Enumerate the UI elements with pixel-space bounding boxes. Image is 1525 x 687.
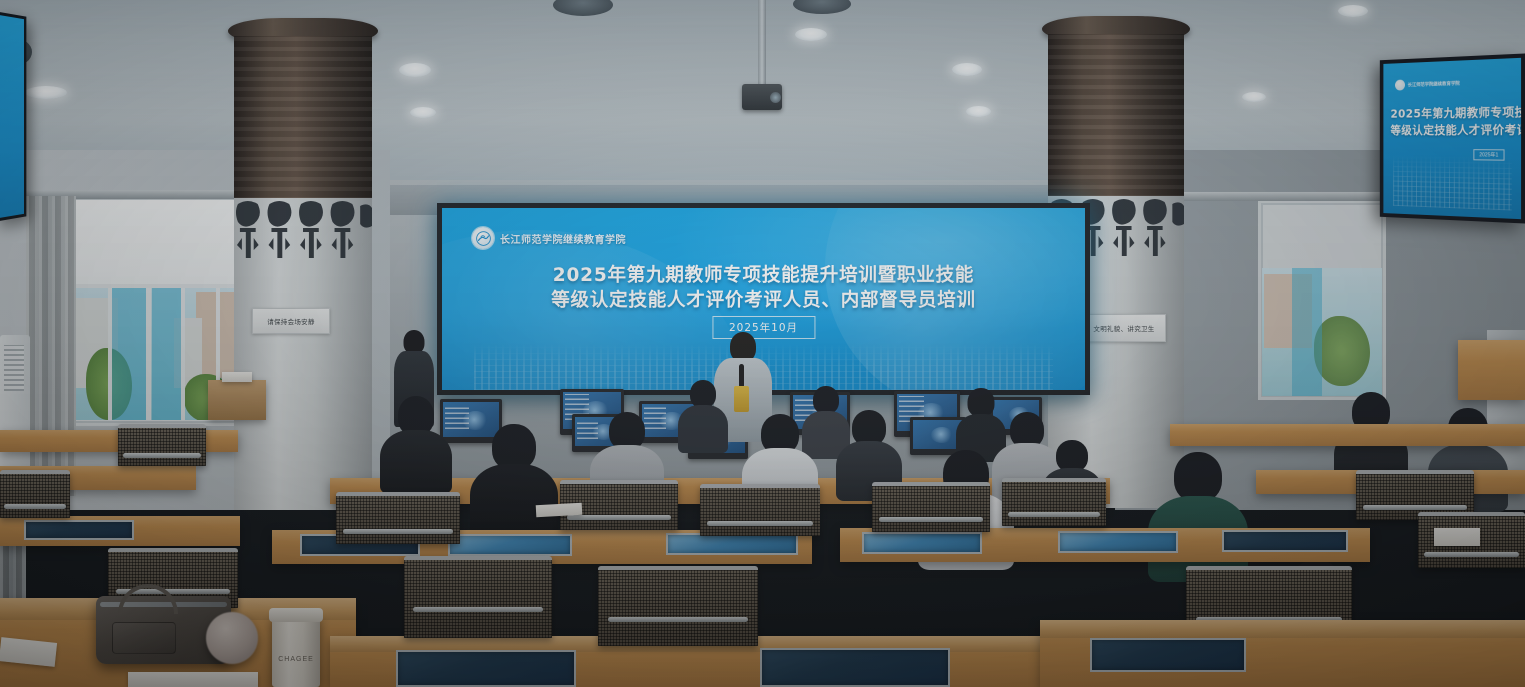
coffee-cup-lid <box>269 608 323 622</box>
led-logo-text: 长江师范学院继续教育学院 <box>500 231 626 246</box>
sign-civility-text: 文明礼貌、讲究卫生 <box>1093 323 1154 333</box>
pillar-left-bronze-band <box>234 36 372 201</box>
window-mullion-3 <box>181 288 185 420</box>
wall-tv-right: 长江师范学院继续教育学院 2025年第九期教师专项技 等级认定技能人才评价考评 … <box>1380 53 1525 223</box>
led-title-line2: 等级认定技能人才评价考评人员、内部督导员培训 <box>442 289 1085 314</box>
coffee-cup: CHAGEE <box>272 614 320 687</box>
chair-mid-5 <box>1002 478 1106 526</box>
audience-body <box>470 464 558 538</box>
chair-chrome-bar <box>879 517 983 522</box>
window-mullion-2 <box>146 288 151 420</box>
chair-chrome-bar <box>123 453 200 458</box>
podium-papers <box>222 372 252 382</box>
coffee-cup-brand-label: CHAGEE <box>272 656 320 663</box>
sign-civility: 文明礼貌、讲究卫生 <box>1082 314 1166 342</box>
chair-mid-3 <box>700 484 820 536</box>
wall-tv-right-logo: 长江师范学院继续教育学院 <box>1395 78 1460 91</box>
pillar-left-ethnic-motif-icon <box>234 198 372 272</box>
wall-tv-right-screen: 长江师范学院继续教育学院 2025年第九期教师专项技 等级认定技能人才评价考评 … <box>1383 58 1521 219</box>
wall-tv-right-logo-text: 长江师范学院继续教育学院 <box>1408 80 1460 88</box>
fur-pompom-keychain <box>206 612 258 664</box>
window-tinted-panel-1 <box>112 288 146 420</box>
ceiling-downlight-3 <box>952 63 982 76</box>
desk-monitor-glass-fc-1 <box>396 650 576 687</box>
sign-keep-quiet-text: 请保持会场安静 <box>267 316 315 326</box>
window-tinted-panel-2 <box>152 288 182 420</box>
desk-monitor-glass-mr-3 <box>1222 530 1348 552</box>
classroom-photo-scene: 请保持会场安静 文明礼貌、讲究卫生 长江师范学院继续教育学院 2025年第九期教… <box>0 0 1525 687</box>
wall-tv-left-screen <box>0 15 24 219</box>
desk-papers-front <box>128 672 258 687</box>
ceiling-downlight-4 <box>410 107 436 118</box>
institution-seal-icon <box>1395 80 1405 91</box>
ceiling-downlight-6 <box>25 86 67 99</box>
chair-mid-1 <box>336 492 460 544</box>
desk-monitor-glass-fc-2 <box>760 648 950 687</box>
projector-lens-icon <box>770 92 781 103</box>
wall-tv-left <box>0 11 26 222</box>
institution-seal-icon <box>472 227 494 249</box>
window-mullion-1 <box>108 288 112 420</box>
chair-front-2 <box>598 566 758 646</box>
pillar-right-bronze-band <box>1048 34 1184 199</box>
led-title: 2025年第九期教师专项技能提升培训暨职业技能 等级认定技能人才评价考评人员、内… <box>442 264 1085 313</box>
seal-glyph-icon <box>476 231 491 246</box>
desk-papers-mid <box>536 503 583 517</box>
chair-left-2 <box>118 424 206 466</box>
air-conditioner-vent-icon <box>4 345 24 391</box>
led-title-line1: 2025年第九期教师专项技能提升培训暨职业技能 <box>442 264 1085 289</box>
chair-chrome-bar <box>413 607 543 612</box>
ceiling-downlight-1 <box>399 63 431 77</box>
window-right-glass <box>1262 268 1382 396</box>
ceiling-downlight-5 <box>966 106 991 117</box>
audience-body <box>678 405 728 453</box>
audience-head <box>1174 452 1222 502</box>
wall-tv-right-title: 2025年第九期教师专项技 等级认定技能人才评价考评 <box>1391 103 1522 139</box>
ceiling-downlight-8 <box>1242 92 1266 102</box>
projector-mount-rod <box>758 0 766 86</box>
window-right-tint <box>1292 268 1322 396</box>
chair-chrome-bar <box>1424 552 1518 557</box>
sign-keep-quiet: 请保持会场安静 <box>252 308 330 334</box>
audience-member-near-1 <box>470 424 558 534</box>
desk-front-right-top <box>1040 620 1525 638</box>
chair-left-1 <box>0 470 70 518</box>
side-podium <box>208 380 266 420</box>
ceiling-downlight-2 <box>795 28 827 41</box>
pillar-left <box>228 18 378 510</box>
chair-chrome-bar <box>567 515 671 520</box>
chair-front-1 <box>404 556 552 638</box>
desk-monitor-glass-ml-3 <box>666 533 798 555</box>
desk-monitor-glass-ml-2 <box>448 534 572 556</box>
right-side-cabinet <box>1458 340 1525 400</box>
audience-member-mid-1 <box>380 396 452 492</box>
presenter-microphone-icon <box>739 364 744 388</box>
led-logo-row: 长江师范学院继续教育学院 <box>472 227 626 249</box>
presenter-lanyard <box>734 386 749 412</box>
audience-body <box>380 430 452 494</box>
desk-right-far-1 <box>1170 424 1525 446</box>
audience-head <box>968 388 995 417</box>
floor-air-conditioner-left <box>0 335 30 485</box>
desk-monitor-glass-mr-2 <box>1058 531 1178 553</box>
chair-chrome-bar <box>4 504 66 509</box>
audience-member-far-1 <box>678 380 728 450</box>
wall-tv-right-title-line1: 2025年第九期教师专项技 <box>1391 103 1522 122</box>
chair-mid-4 <box>872 482 990 532</box>
handbag-front-pocket <box>112 622 176 654</box>
outside-tree-right <box>1314 316 1370 386</box>
wall-tv-right-title-line2: 等级认定技能人才评价考评 <box>1391 121 1522 139</box>
wall-tv-right-campus-graphic <box>1394 155 1513 210</box>
chair-chrome-bar <box>1008 512 1100 517</box>
desktop-wallpaper <box>931 427 954 443</box>
pillar-left-shaft <box>234 198 372 510</box>
desk-monitor-glass-fr-1 <box>1090 638 1246 672</box>
chair-chrome-bar <box>608 617 749 622</box>
ceiling-downlight-7 <box>1338 5 1368 17</box>
chair-chrome-bar <box>343 529 452 534</box>
chair-chrome-bar <box>1363 505 1467 510</box>
audience-head <box>690 380 716 408</box>
chair-chrome-bar <box>707 521 813 526</box>
desk-monitor-glass-mr-1 <box>862 532 982 554</box>
desk-papers-right <box>1434 528 1480 546</box>
desk-monitor-glass-lf-1 <box>24 520 134 540</box>
